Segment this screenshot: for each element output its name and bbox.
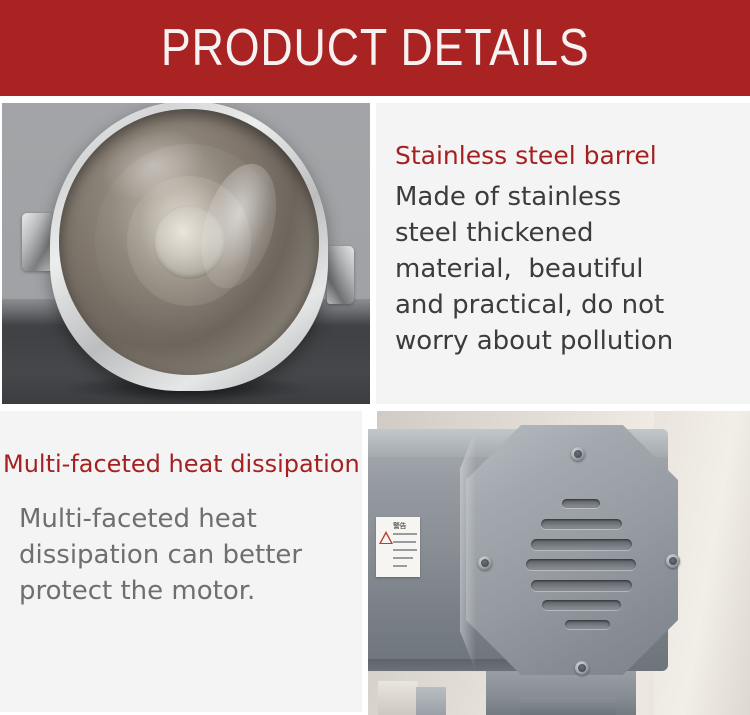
feature-heading-2: Multi-faceted heat dissipation [3, 451, 360, 477]
bowl-handle-right [327, 246, 354, 304]
housing-screw-right [666, 554, 680, 568]
feature-body-1: Made of stainless steel thickened materi… [395, 179, 740, 359]
product-details-page: PRODUCT DETAILS Stainless steel barrel M… [0, 0, 750, 715]
warning-label-text-line [393, 565, 407, 567]
vent-slot [531, 539, 632, 550]
machine-foot-right [416, 687, 446, 715]
bowl-interior [59, 109, 319, 375]
vent-slot [565, 620, 610, 629]
warning-label-title: 警告 [393, 521, 406, 531]
warning-label-text-line [393, 533, 417, 535]
motor-base-lower [520, 697, 616, 715]
feature-photo-heat-dissipation: 警告 [368, 411, 750, 715]
vent-slot [531, 580, 632, 591]
vent-slot [542, 600, 621, 610]
housing-screw-bottom [575, 661, 589, 675]
feature-body-2: Multi-faceted heat dissipation can bette… [19, 501, 359, 609]
bowl-body [50, 103, 328, 391]
vent-slot [541, 519, 622, 529]
vent-slot [562, 499, 600, 508]
feature-text-panel-stainless-steel-barrel: Stainless steel barrel Made of stainless… [376, 103, 750, 404]
feature-text-panel-heat-dissipation: Multi-faceted heat dissipation Multi-fac… [0, 411, 362, 712]
machine-foot-left [378, 681, 418, 715]
feature-heading-1: Stainless steel barrel [395, 142, 657, 170]
warning-label-text-line [393, 541, 416, 543]
motor-warning-label: 警告 [376, 517, 420, 577]
vent-slot [526, 559, 636, 570]
warning-label-text-line [393, 557, 413, 559]
warning-triangle-inner [381, 534, 391, 543]
housing-screw-top [571, 447, 585, 461]
page-title: PRODUCT DETAILS [161, 22, 590, 74]
housing-screw-left [478, 556, 492, 570]
warning-label-text-line [393, 549, 417, 551]
motor-end-cap [466, 425, 678, 675]
bowl-handle-left [22, 213, 52, 271]
page-header-banner: PRODUCT DETAILS [0, 0, 750, 96]
feature-photo-stainless-steel-barrel [2, 103, 370, 404]
